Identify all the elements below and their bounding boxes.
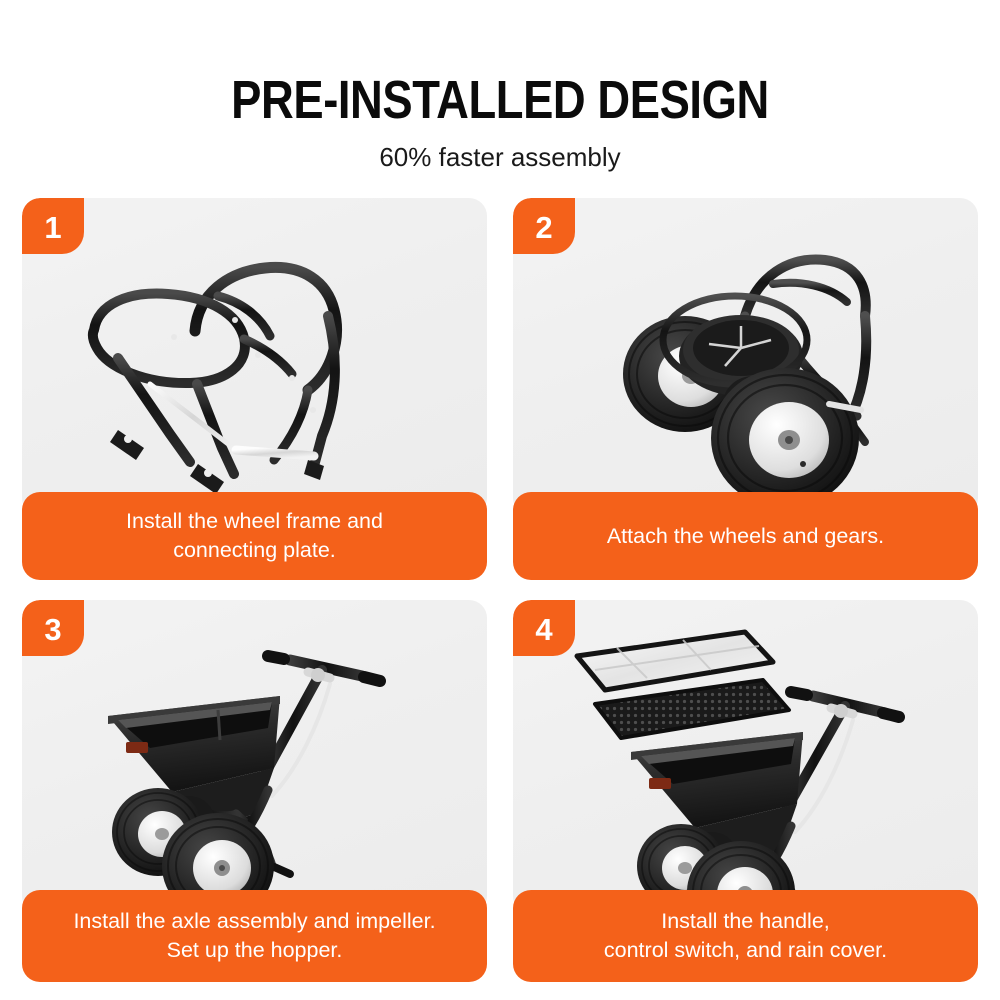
step-image-panel: 2 xyxy=(513,198,978,516)
spreader-rain-cover-image xyxy=(513,600,978,914)
step-number-badge: 1 xyxy=(22,198,84,254)
step-number-badge: 4 xyxy=(513,600,575,656)
wheels-and-gears-image xyxy=(513,198,978,516)
step-caption-bar: Attach the wheels and gears. xyxy=(513,492,978,580)
step-caption-text: Install the wheel frame and connecting p… xyxy=(126,507,383,565)
step-image-panel: 4 xyxy=(513,600,978,914)
step-caption-text: Install the axle assembly and impeller. … xyxy=(73,907,435,965)
step-card-4[interactable]: 4 Install the handle, control switch, an… xyxy=(513,600,978,982)
wheel-frame-image xyxy=(22,198,487,516)
steps-grid: 1 Install the wheel frame and connecting… xyxy=(22,198,978,982)
step-card-2[interactable]: 2 Attach the wheels and gears. xyxy=(513,198,978,580)
step-number: 1 xyxy=(44,212,61,243)
step-image-panel: 1 xyxy=(22,198,487,516)
step-caption-bar: Install the handle, control switch, and … xyxy=(513,890,978,982)
page-title: PRE-INSTALLED DESIGN xyxy=(80,72,920,128)
header: PRE-INSTALLED DESIGN 60% faster assembly xyxy=(0,0,1000,172)
step-number-badge: 2 xyxy=(513,198,575,254)
step-caption-bar: Install the wheel frame and connecting p… xyxy=(22,492,487,580)
spreader-hopper-image xyxy=(22,600,487,914)
infographic-page: PRE-INSTALLED DESIGN 60% faster assembly xyxy=(0,0,1000,1000)
step-caption-text: Attach the wheels and gears. xyxy=(607,522,884,551)
step-caption-bar: Install the axle assembly and impeller. … xyxy=(22,890,487,982)
step-card-3[interactable]: 3 Install the axle assembly and impeller… xyxy=(22,600,487,982)
step-number: 3 xyxy=(44,614,61,645)
step-number-badge: 3 xyxy=(22,600,84,656)
step-card-1[interactable]: 1 Install the wheel frame and connecting… xyxy=(22,198,487,580)
step-number: 2 xyxy=(535,212,552,243)
page-subtitle: 60% faster assembly xyxy=(0,142,1000,172)
step-caption-text: Install the handle, control switch, and … xyxy=(604,907,887,965)
step-image-panel: 3 xyxy=(22,600,487,914)
step-number: 4 xyxy=(535,614,552,645)
